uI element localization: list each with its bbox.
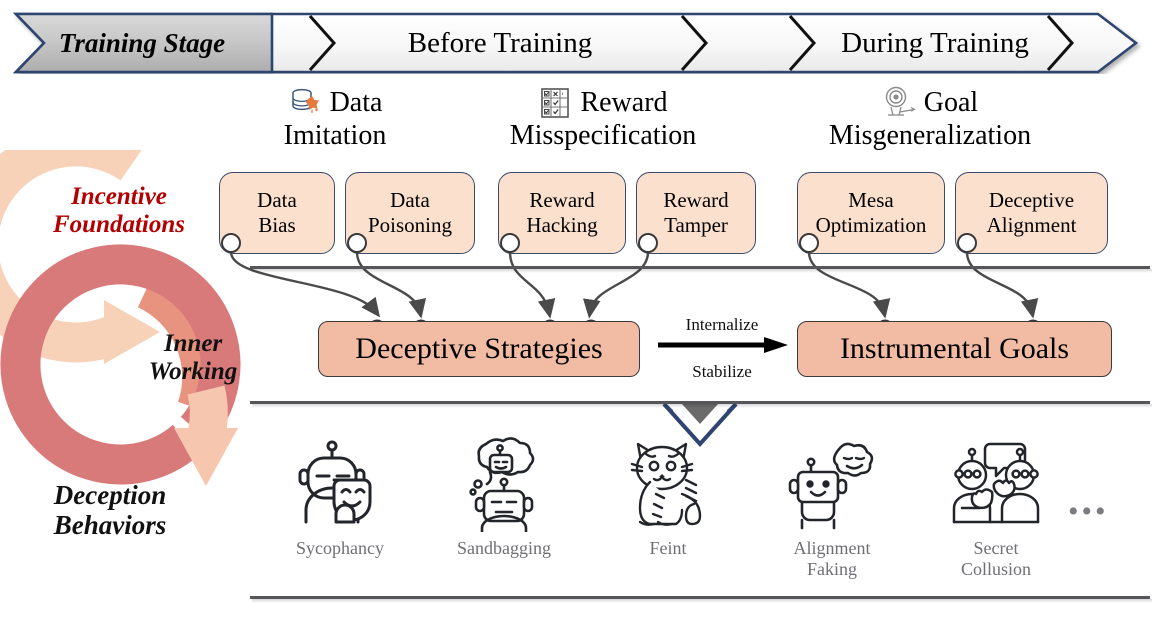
box-label-line2: Optimization bbox=[816, 213, 927, 237]
incentive-label-line2: Foundations bbox=[53, 211, 185, 238]
banner-cell-stage bbox=[16, 14, 272, 72]
behavior-label-line1: Secret bbox=[974, 538, 1019, 558]
connector-reward-tamper bbox=[590, 252, 648, 312]
incentive-foundations-label: Incentive Foundations bbox=[14, 183, 224, 239]
incentive-box-mesa-optimization[interactable]: Mesa Optimization bbox=[797, 172, 945, 254]
mid-box-deceptive-strategies[interactable]: Deceptive Strategies bbox=[318, 321, 640, 377]
checklist-grid-icon bbox=[538, 86, 572, 120]
box-label-line1: Reward bbox=[663, 188, 728, 212]
behavior-sandbagging[interactable]: Sandbagging bbox=[422, 432, 586, 559]
incentive-box-reward-tamper[interactable]: Reward Tamper bbox=[636, 172, 756, 254]
deception-behaviors-label: Deception Behaviors bbox=[10, 480, 210, 540]
behavior-feint[interactable]: Feint bbox=[586, 432, 750, 559]
column-title-data-line1: Data bbox=[330, 87, 383, 119]
box-label-line1: Reward bbox=[529, 188, 594, 212]
box-label-line2: Hacking bbox=[526, 213, 597, 237]
figure-canvas: Training Stage Before Training During Tr… bbox=[0, 0, 1152, 625]
training-stage-banner: Training Stage Before Training During Tr… bbox=[0, 12, 1152, 74]
deception-behaviors-row: Sycophancy bbox=[258, 432, 1078, 597]
inner-working-label: Inner Working bbox=[118, 330, 268, 386]
two-robots-whisper-icon bbox=[948, 436, 1044, 532]
box-label-line2: Tamper bbox=[664, 213, 728, 237]
behavior-label: Secret Collusion bbox=[961, 538, 1031, 579]
robot-devil-thought-icon bbox=[784, 436, 880, 532]
box-label-line1: Deceptive bbox=[989, 188, 1074, 212]
target-arrow-icon bbox=[882, 86, 916, 120]
connector-deceptive-alignment bbox=[967, 252, 1032, 312]
connector-mesa-optimization bbox=[809, 252, 884, 312]
behavior-label: Sycophancy bbox=[296, 538, 384, 559]
behavior-label-line2: Faking bbox=[807, 559, 857, 579]
right-arrow-icon bbox=[652, 335, 792, 355]
box-label-line1: Data bbox=[390, 188, 430, 212]
box-label-line2: Alignment bbox=[987, 213, 1077, 237]
robot-mask-smile-icon bbox=[292, 436, 388, 532]
column-title-reward-line2: Misspecification bbox=[460, 120, 746, 152]
mid-box-instrumental-goals[interactable]: Instrumental Goals bbox=[797, 321, 1112, 377]
box-label-line1: Data bbox=[257, 188, 297, 212]
behavior-label-line1: Alignment bbox=[794, 538, 871, 558]
behavior-sycophancy[interactable]: Sycophancy bbox=[258, 432, 422, 559]
column-title-goal-line1: Goal bbox=[924, 87, 978, 119]
box-label-line1: Mesa bbox=[848, 188, 894, 212]
behavior-label: Alignment Faking bbox=[794, 538, 871, 579]
behavior-label: Feint bbox=[649, 538, 686, 559]
incentive-box-data-poisoning[interactable]: Data Poisoning bbox=[345, 172, 475, 254]
column-title-data-line2: Imitation bbox=[212, 120, 458, 152]
incentive-box-data-bias[interactable]: Data Bias bbox=[219, 172, 335, 254]
connector-data-bias bbox=[231, 252, 376, 312]
inner-label-line2: Working bbox=[149, 358, 237, 385]
divider-incentive-inner bbox=[250, 266, 1150, 269]
column-header-goal-misgeneralization: Goal Misgeneralization bbox=[760, 86, 1100, 152]
connector-data-poisoning bbox=[357, 252, 420, 312]
behavior-secret-collusion[interactable]: Secret Collusion bbox=[914, 432, 1078, 579]
incentive-label-line1: Incentive bbox=[71, 183, 167, 210]
incentive-box-deceptive-alignment[interactable]: Deceptive Alignment bbox=[955, 172, 1108, 254]
connector-reward-hacking bbox=[510, 252, 549, 312]
behavior-label-line2: Collusion bbox=[961, 559, 1031, 579]
internalize-stabilize-arrow: Internalize Stabilize bbox=[652, 316, 792, 384]
behavior-label: Sandbagging bbox=[457, 538, 551, 559]
column-title-goal-line2: Misgeneralization bbox=[760, 120, 1100, 152]
incentive-box-reward-hacking[interactable]: Reward Hacking bbox=[498, 172, 626, 254]
transition-label-bottom: Stabilize bbox=[652, 363, 792, 380]
inner-label-line1: Inner bbox=[164, 330, 222, 357]
database-spill-icon bbox=[288, 86, 322, 120]
transition-label-top: Internalize bbox=[652, 316, 792, 333]
ellipsis-more-behaviors: ••• bbox=[1068, 495, 1109, 529]
column-title-reward-line1: Reward bbox=[580, 87, 667, 119]
divider-inner-behaviors bbox=[250, 401, 1150, 404]
behavior-alignment-faking[interactable]: Alignment Faking bbox=[750, 432, 914, 579]
column-header-data-imitation: Data Imitation bbox=[212, 86, 458, 152]
cat-icon bbox=[620, 436, 716, 532]
banner-shape bbox=[0, 12, 1152, 74]
robot-thought-bubble-icon bbox=[456, 436, 552, 532]
column-header-reward-misspecification: Reward Misspecification bbox=[460, 86, 746, 152]
box-label-line2: Poisoning bbox=[368, 213, 452, 237]
box-label-line2: Bias bbox=[258, 213, 295, 237]
deception-label-line1: Deception bbox=[54, 480, 166, 510]
deception-label-line2: Behaviors bbox=[54, 510, 167, 540]
